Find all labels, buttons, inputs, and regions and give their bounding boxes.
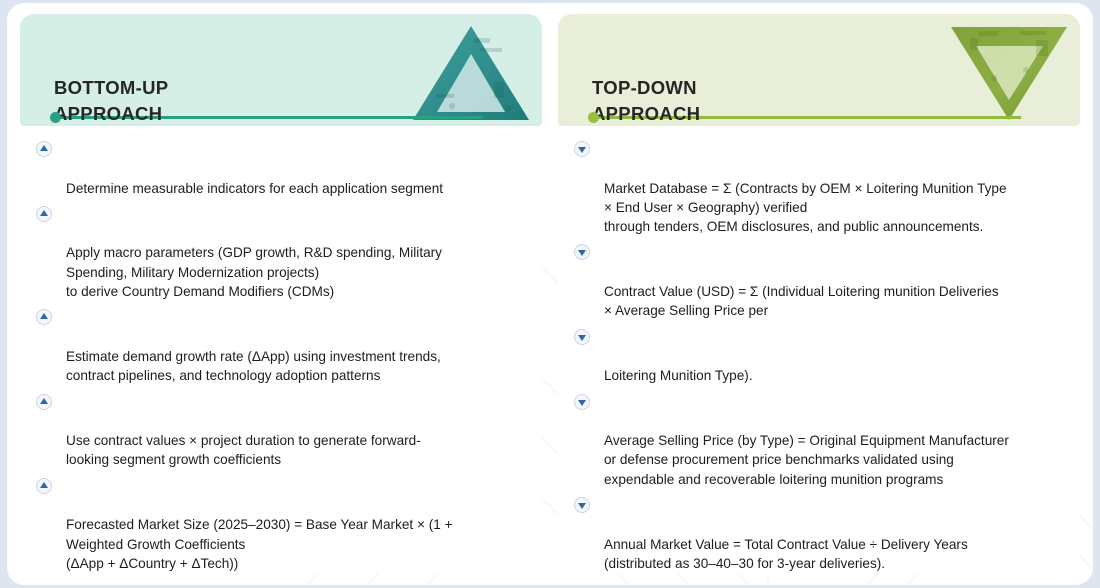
triangle-down-bullet-icon	[574, 329, 590, 345]
bottom-up-list: Determine measurable indicators for each…	[30, 140, 524, 574]
list-item-text: Determine measurable indicators for each…	[66, 181, 443, 196]
top-down-title: TOP-DOWN APPROACH	[592, 75, 700, 126]
list-item: Market Database = Σ (Contracts by OEM × …	[568, 140, 1062, 236]
list-item: Use contract values × project duration t…	[30, 393, 524, 470]
triangle-up-bullet-icon	[36, 141, 52, 157]
list-item-text: Average Selling Price (by Type) = Origin…	[604, 433, 1009, 487]
top-down-accent-dot	[588, 112, 599, 123]
triangle-up-icon	[412, 24, 530, 122]
list-item: Estimate demand growth rate (ΔApp) using…	[30, 308, 524, 385]
top-down-list: Market Database = Σ (Contracts by OEM × …	[568, 140, 1062, 574]
list-item: Loitering Munition Type).	[568, 328, 1062, 386]
top-down-card: TOP-DOWN APPROACH Market Database = Σ (C…	[558, 14, 1080, 574]
bottom-up-header: BOTTOM-UP APPROACH	[20, 14, 542, 126]
triangle-down-bullet-icon	[574, 141, 590, 157]
list-item-text: Loitering Munition Type).	[604, 368, 753, 383]
triangle-down-bullet-icon	[574, 497, 590, 513]
list-item: Forecasted Market Size (2025–2030) = Bas…	[30, 477, 524, 573]
list-item-text: Apply macro parameters (GDP growth, R&D …	[66, 245, 442, 299]
triangle-down-icon	[950, 24, 1068, 122]
triangle-up-bullet-icon	[36, 206, 52, 222]
list-item-text: Forecasted Market Size (2025–2030) = Bas…	[66, 517, 453, 571]
list-item: Determine measurable indicators for each…	[30, 140, 524, 198]
list-item-text: Annual Market Value = Total Contract Val…	[604, 537, 968, 571]
triangle-up-bullet-icon	[36, 394, 52, 410]
triangle-up-bullet-icon	[36, 478, 52, 494]
triangle-down-bullet-icon	[574, 244, 590, 260]
bottom-up-body: Determine measurable indicators for each…	[20, 126, 542, 574]
triangle-up-bullet-icon	[36, 309, 52, 325]
list-item-text: Use contract values × project duration t…	[66, 433, 421, 467]
list-item-text: Estimate demand growth rate (ΔApp) using…	[66, 349, 441, 383]
list-item-text: Market Database = Σ (Contracts by OEM × …	[604, 181, 1007, 235]
triangle-down-bullet-icon	[574, 394, 590, 410]
list-item: Average Selling Price (by Type) = Origin…	[568, 393, 1062, 489]
approach-columns: BOTTOM-UP APPROACH Determine measurable …	[8, 4, 1092, 584]
list-item: Apply macro parameters (GDP growth, R&D …	[30, 205, 524, 301]
list-item-text: Contract Value (USD) = Σ (Individual Loi…	[604, 284, 999, 318]
bottom-up-title: BOTTOM-UP APPROACH	[54, 75, 168, 126]
bottom-up-card: BOTTOM-UP APPROACH Determine measurable …	[20, 14, 542, 574]
list-item: Contract Value (USD) = Σ (Individual Loi…	[568, 243, 1062, 320]
bottom-up-accent-dot	[50, 112, 61, 123]
infographic-board: BOTTOM-UP APPROACH Determine measurable …	[8, 4, 1092, 584]
top-down-header: TOP-DOWN APPROACH	[558, 14, 1080, 126]
list-item: Annual Market Value = Total Contract Val…	[568, 496, 1062, 573]
top-down-body: Market Database = Σ (Contracts by OEM × …	[558, 126, 1080, 574]
